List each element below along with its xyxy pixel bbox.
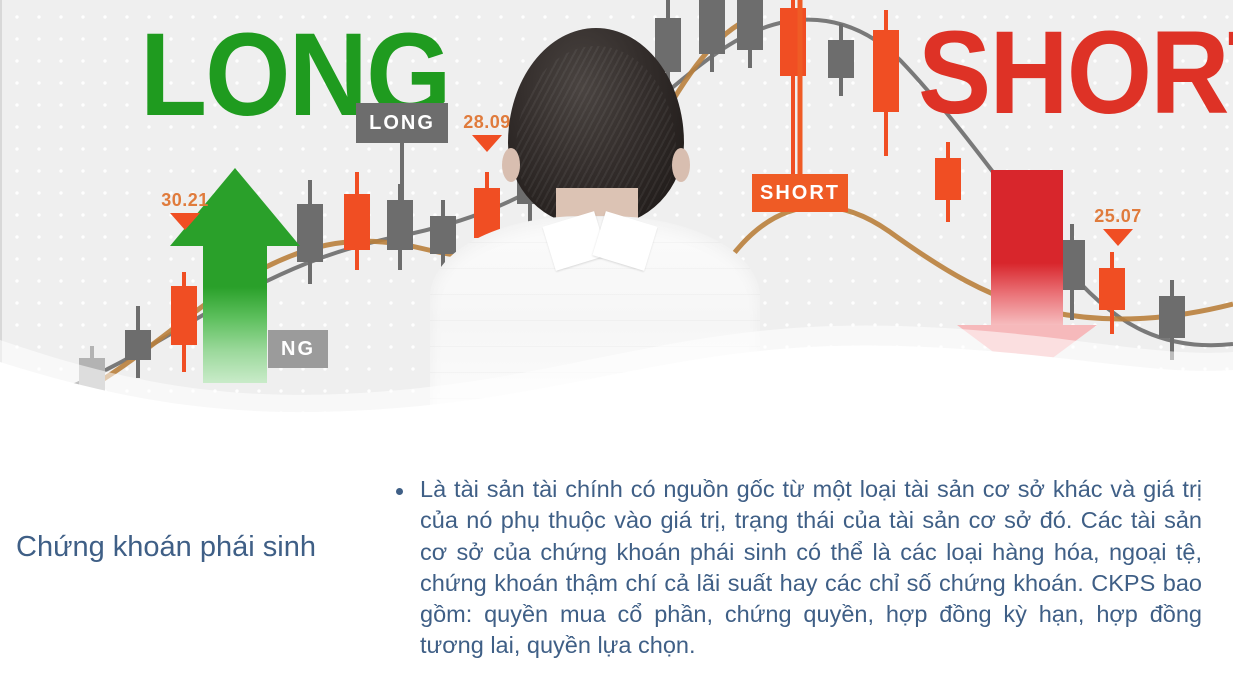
person-silhouette	[430, 28, 760, 430]
candle-body	[344, 194, 370, 250]
bullet-list: Là tài sản tài chính có nguồn gốc từ một…	[392, 474, 1202, 662]
tag-short: SHORT	[752, 174, 848, 212]
tag-short-label: SHORT	[760, 182, 840, 205]
tag-long-stem	[400, 143, 404, 248]
candlestick-down	[125, 306, 151, 378]
candlestick-down	[79, 346, 105, 412]
price-triangle-down-icon	[1103, 229, 1133, 246]
wordmark-short: SHORT	[918, 14, 1233, 132]
candlestick-up	[1099, 252, 1125, 334]
candle-body	[1099, 268, 1125, 310]
short-arrow-down-icon	[957, 170, 1097, 385]
list-item: Là tài sản tài chính có nguồn gốc từ một…	[392, 474, 1202, 662]
candlestick-down	[828, 24, 854, 96]
arrow-down-shaft	[991, 170, 1063, 325]
hero-banner-image: LONG SHORT LONG NG SHORT 30.21 28.09 25.…	[0, 0, 1233, 430]
candlestick-up	[873, 10, 899, 156]
price-triangle-down-icon	[170, 213, 200, 230]
tag-short-stem	[798, 0, 803, 174]
tag-long-label: LONG	[369, 112, 435, 135]
price-flag-25-07: 25.07	[1083, 206, 1153, 246]
candle-body	[828, 40, 854, 78]
candle-body	[873, 30, 899, 112]
slide-root: LONG SHORT LONG NG SHORT 30.21 28.09 25.…	[0, 0, 1233, 687]
candle-body	[79, 358, 105, 400]
arrow-down-head	[957, 325, 1097, 377]
person-ear-left	[502, 148, 520, 182]
price-flag-30-21: 30.21	[150, 190, 220, 230]
page-title: Chứng khoán phái sinh	[16, 530, 386, 565]
bullet-list-ul: Là tài sản tài chính có nguồn gốc từ một…	[392, 474, 1202, 662]
candle-body	[1159, 296, 1185, 338]
tag-long-partial: NG	[268, 330, 328, 368]
person-ear-right	[672, 148, 690, 182]
slide-content: Chứng khoán phái sinh Là tài sản tài chí…	[0, 430, 1233, 687]
candlestick-down	[297, 180, 323, 284]
candle-body	[125, 330, 151, 360]
tag-long-partial-label: NG	[281, 338, 315, 361]
candlestick-down	[1159, 280, 1185, 360]
price-value: 25.07	[1083, 206, 1153, 227]
candlestick-up	[344, 172, 370, 270]
price-value: 30.21	[150, 190, 220, 211]
arrow-up-shaft	[203, 246, 267, 383]
candle-body	[297, 204, 323, 262]
